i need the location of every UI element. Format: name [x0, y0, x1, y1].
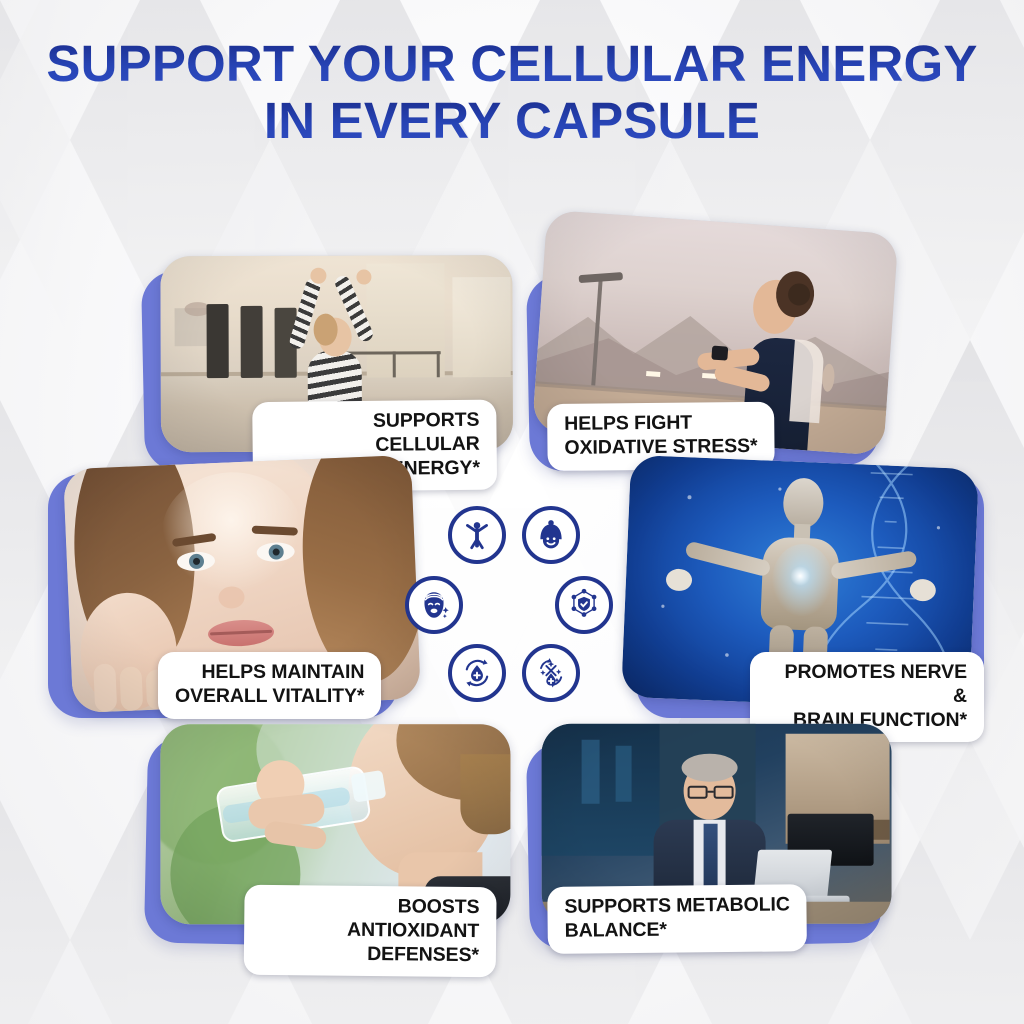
benefit-card-helps-maintain-overall-vitality[interactable]: HELPS MAINTAIN OVERALL VITALITY* — [48, 474, 398, 718]
benefit-card-helps-fight-oxidative-stress[interactable]: HELPS FIGHT OXIDATIVE STRESS* — [526, 268, 880, 471]
card-label-helps-maintain-overall-vitality: HELPS MAINTAIN OVERALL VITALITY* — [158, 652, 381, 719]
vitality-person-icon[interactable] — [448, 506, 506, 564]
hydration-cycle-icon[interactable] — [448, 644, 506, 702]
card-label-boosts-antioxidant-defenses: BOOSTS ANTIOXIDANT DEFENSES* — [244, 885, 497, 978]
benefit-card-supports-metabolic-balance[interactable]: SUPPORTS METABOLIC BALANCE* — [526, 736, 882, 949]
infographic-canvas: SUPPORT YOUR CELLULAR ENERGY IN EVERY CA… — [0, 0, 1024, 1024]
benefit-card-boosts-antioxidant-defenses[interactable]: BOOSTS ANTIOXIDANT DEFENSES* — [144, 736, 500, 949]
benefit-card-supports-cellular-health[interactable]: SUPPORTS CELLULAR HEALTH & ENERGY* — [141, 264, 497, 471]
benefit-card-promotes-nerve-brain-function[interactable]: PROMOTES NERVE & BRAIN FUNCTION* — [636, 474, 984, 718]
wellbeing-face-icon[interactable] — [522, 506, 580, 564]
card-label-supports-metabolic-balance: SUPPORTS METABOLIC BALANCE* — [547, 884, 807, 953]
card-label-text: PROMOTES NERVE & BRAIN FUNCTION* — [767, 661, 967, 732]
card-label-text: HELPS FIGHT OXIDATIVE STRESS* — [564, 411, 757, 461]
card-label-text: SUPPORTS METABOLIC BALANCE* — [564, 893, 790, 943]
skin-health-face-icon[interactable] — [405, 576, 463, 634]
card-label-text: BOOSTS ANTIOXIDANT DEFENSES* — [261, 894, 480, 968]
center-icon-cluster — [398, 498, 626, 698]
antioxidant-shield-icon[interactable] — [555, 576, 613, 634]
card-label-text: HELPS MAINTAIN OVERALL VITALITY* — [175, 661, 364, 709]
detox-sparkle-icon[interactable] — [522, 644, 580, 702]
